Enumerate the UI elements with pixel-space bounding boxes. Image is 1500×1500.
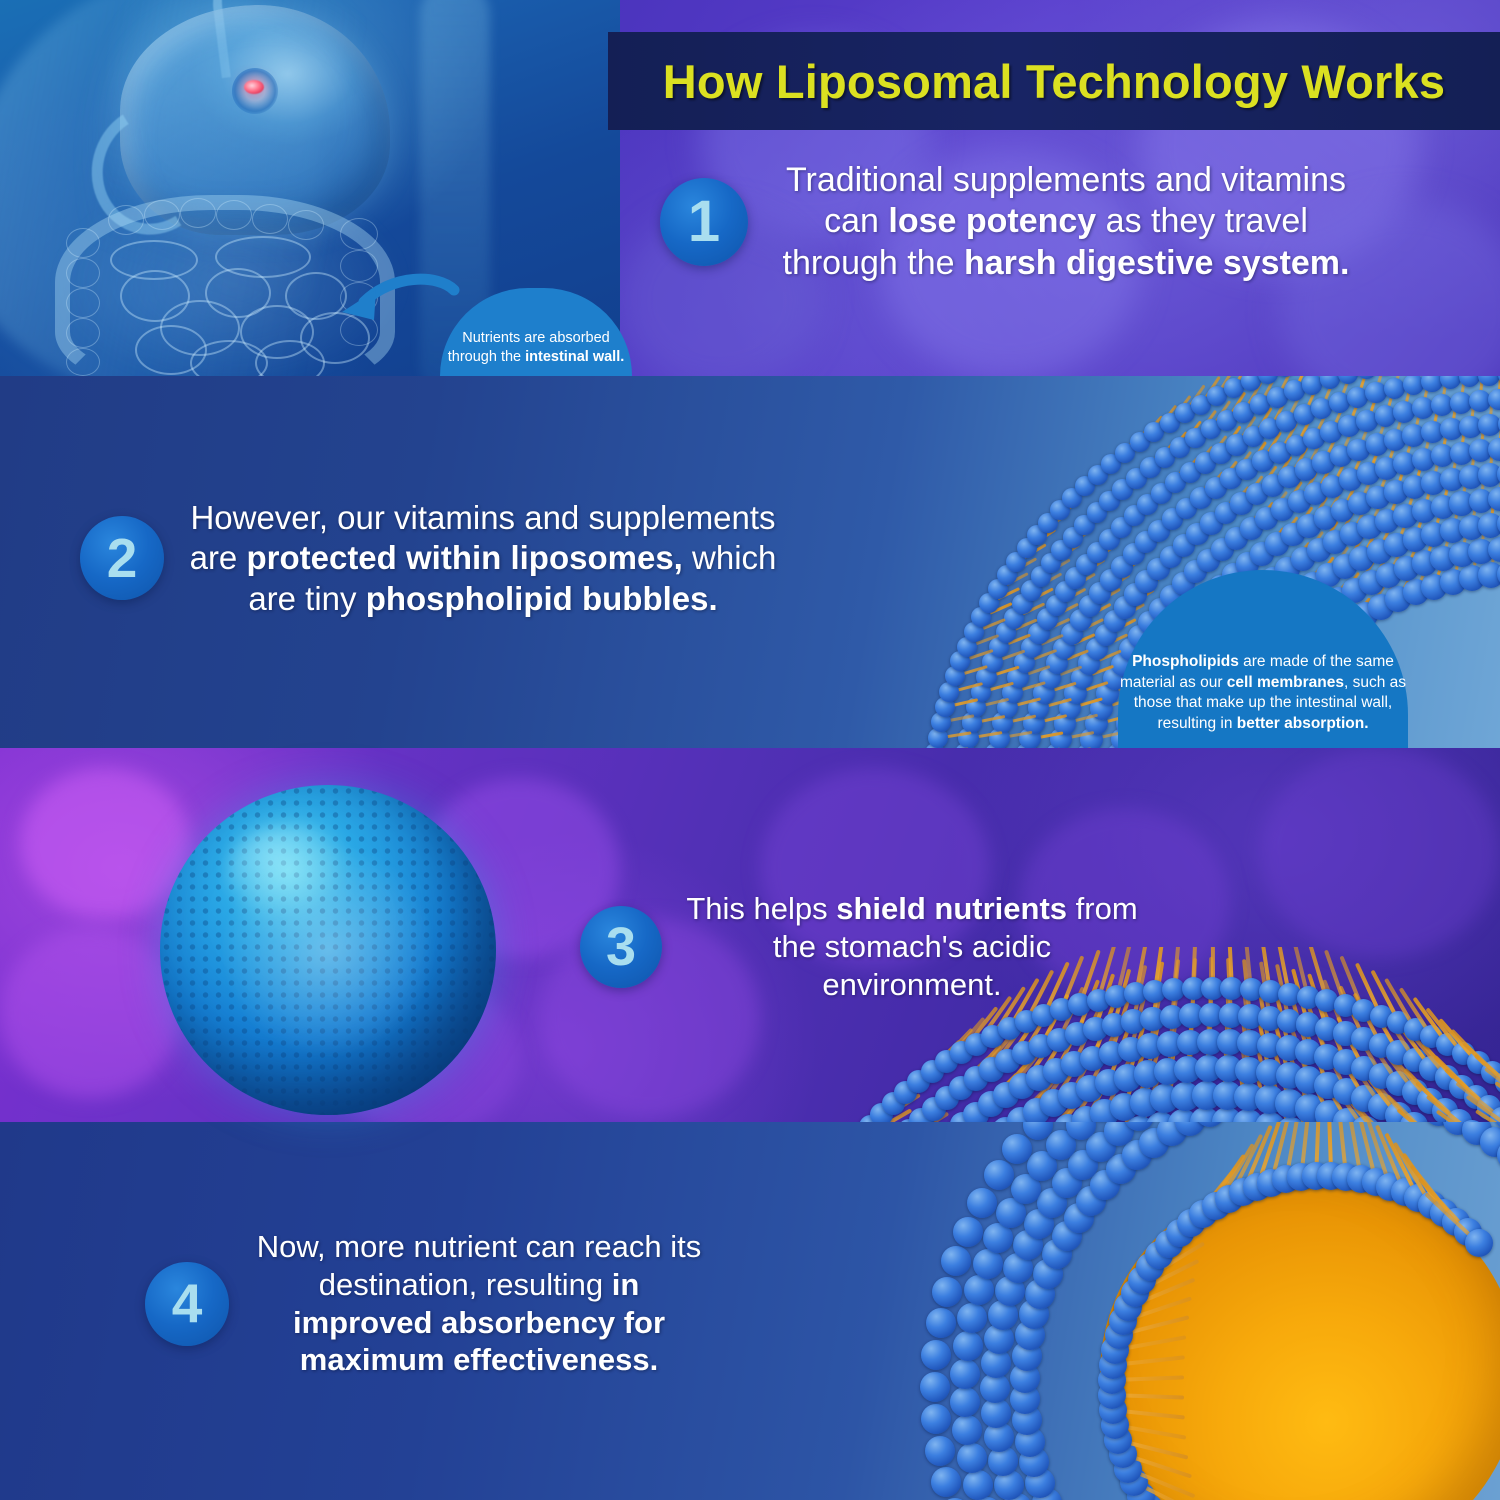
liposome-bead-texture	[160, 785, 496, 1115]
phospholipid-head	[957, 1303, 987, 1333]
phospholipid-head	[1478, 414, 1500, 436]
phospholipid-head	[1384, 378, 1405, 399]
step-2-text: However, our vitamins and supplements ar…	[186, 498, 780, 619]
phospholipid-head	[963, 1470, 993, 1500]
phospholipid-head	[921, 1340, 951, 1370]
phospholipid-head	[953, 1217, 983, 1247]
colon-segment	[66, 258, 100, 288]
colon-segment	[66, 318, 100, 348]
panel-step-1: Nutrients are absorbed through the intes…	[0, 0, 1500, 376]
intestinal-wall-callout-text: Nutrients are absorbed through the intes…	[440, 329, 632, 366]
colon-segment	[252, 204, 288, 234]
colon-segment	[340, 218, 378, 250]
phospholipid-head	[953, 1331, 983, 1361]
colon-segment	[66, 348, 100, 376]
panel-step-2: 2 However, our vitamins and supplements …	[0, 376, 1500, 748]
phospholipid-head	[941, 1246, 971, 1276]
small-intestine-coil	[215, 236, 311, 278]
phospholipid-head	[921, 1404, 951, 1434]
liposome-sphere	[160, 785, 496, 1115]
colon-segment	[216, 200, 252, 230]
colon-segment	[66, 288, 100, 318]
red-blood-cell	[0, 928, 180, 1098]
phospholipid-head	[925, 1436, 955, 1466]
phospholipid-head	[984, 1160, 1014, 1190]
colon-segment	[66, 228, 100, 258]
phospholipid-head	[1338, 376, 1359, 384]
step-number-badge-4: 4	[145, 1262, 229, 1346]
liposomal-technology-infographic: Nutrients are absorbed through the intes…	[0, 0, 1500, 1500]
phospholipid-head	[1356, 376, 1377, 379]
small-intestine-coil	[110, 240, 198, 280]
step-number-badge-2: 2	[80, 516, 164, 600]
phospholipid-head	[1241, 376, 1261, 391]
phospholipid-head	[950, 1359, 980, 1389]
phospholipid-head	[950, 1387, 980, 1417]
step-1: 1 Traditional supplements and vitamins c…	[660, 160, 1360, 284]
phospholipid-head	[952, 1415, 982, 1445]
step-3-text: This helps shield nutrients from the sto…	[684, 890, 1140, 1003]
stomach-nutrient-marker	[244, 80, 264, 94]
colon-segment	[180, 198, 216, 228]
colon-segment	[144, 200, 180, 230]
liposome-specular-highlight	[227, 825, 348, 917]
phospholipid-head	[931, 1467, 961, 1497]
page-title: How Liposomal Technology Works	[663, 54, 1445, 109]
phospholipid-head	[926, 1308, 956, 1338]
phospholipid-head	[964, 1275, 994, 1305]
phospholipid-head	[1465, 1229, 1493, 1257]
step-2: 2 However, our vitamins and supplements …	[80, 498, 780, 619]
phospholipid-head	[967, 1188, 997, 1218]
step-4: 4 Now, more nutrient can reach its desti…	[145, 1228, 705, 1379]
phospholipid-head	[957, 1443, 987, 1473]
panel-step-4: 4 Now, more nutrient can reach its desti…	[0, 1122, 1500, 1500]
step-3: 3 This helps shield nutrients from the s…	[580, 890, 1140, 1003]
step-1-text: Traditional supplements and vitamins can…	[772, 160, 1360, 284]
phospholipids-callout-text: Phospholipids are made of the same mater…	[1118, 652, 1408, 734]
step-number-badge-1: 1	[660, 178, 748, 266]
phospholipid-head	[973, 1249, 1003, 1279]
phospholipid-head	[1320, 376, 1341, 389]
red-blood-cell	[20, 768, 190, 918]
phospholipid-head	[1412, 397, 1434, 419]
red-blood-cell	[1260, 748, 1500, 958]
phospholipid-head	[1275, 376, 1295, 377]
liposome-cross-section-illustration	[840, 1122, 1500, 1500]
step-4-text: Now, more nutrient can reach its destina…	[253, 1228, 705, 1379]
colon-segment	[288, 210, 324, 240]
phospholipid-head	[932, 1277, 962, 1307]
title-band: How Liposomal Technology Works	[608, 32, 1500, 130]
step-number-badge-3: 3	[580, 906, 662, 988]
colon-segment	[108, 205, 144, 235]
phospholipid-head	[920, 1372, 950, 1402]
